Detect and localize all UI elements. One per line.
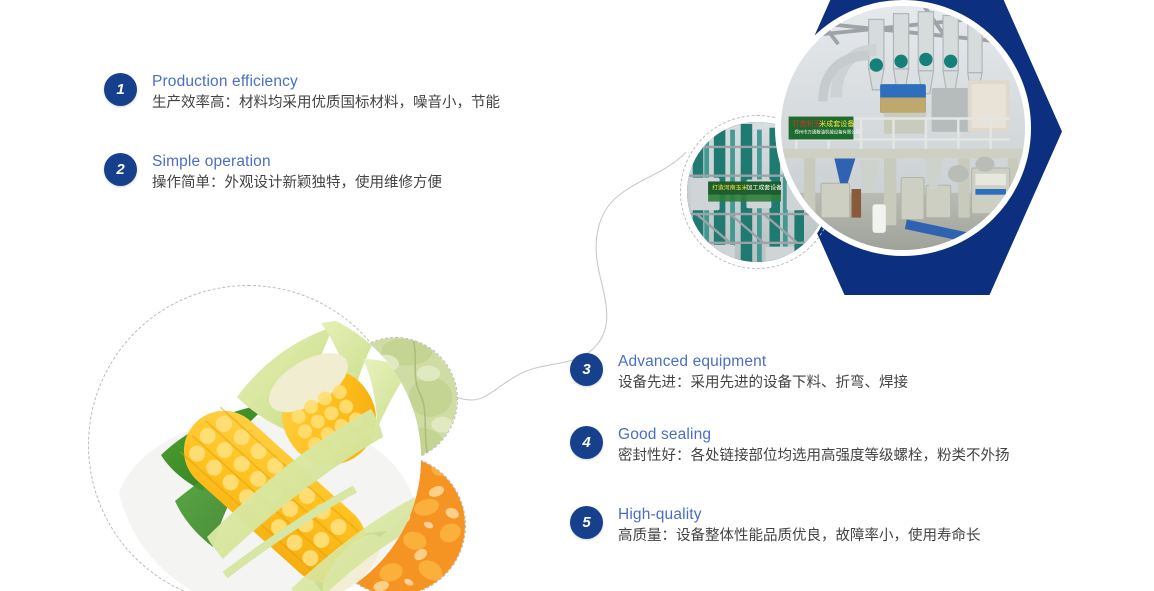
feature-body: 设备先进：采用先进的设备下料、折弯、焊接 — [618, 373, 908, 394]
corn-cob-photo-circle — [115, 305, 421, 591]
feature-item-5[interactable]: 5 High-quality 高质量：设备整体性能品质优良，故障率小，使用寿命长 — [570, 505, 981, 547]
feature-text-block: Good sealing 密封性好：各处链接部位均选用高强度等级螺栓，粉类不外扬 — [618, 425, 1010, 467]
svg-text:加工成套设备: 加工成套设备 — [746, 184, 782, 192]
feature-body: 生产效率高：材料均采用优质国标材料，噪音小，节能 — [152, 93, 500, 114]
feature-item-3[interactable]: 3 Advanced equipment 设备先进：采用先进的设备下料、折弯、焊… — [570, 352, 908, 394]
feature-body: 高质量：设备整体性能品质优良，故障率小，使用寿命长 — [618, 526, 981, 547]
poster-canvas: 打造河南玉米 加工成套设备 — [0, 0, 1154, 591]
feature-heading: Advanced equipment — [618, 352, 908, 371]
svg-text:米成套设备: 米成套设备 — [819, 119, 854, 128]
feature-heading: Production efficiency — [152, 72, 500, 91]
svg-text:打造河南玉米: 打造河南玉米 — [712, 184, 748, 192]
feature-text-block: Simple operation 操作简单：外观设计新颖独特，使用维修方便 — [152, 152, 442, 194]
feature-number-badge: 3 — [570, 353, 603, 386]
feature-number-badge: 1 — [104, 73, 137, 106]
feature-body: 密封性好：各处链接部位均选用高强度等级螺栓，粉类不外扬 — [618, 446, 1010, 467]
feature-heading: Simple operation — [152, 152, 442, 171]
feature-body: 操作简单：外观设计新颖独特，使用维修方便 — [152, 173, 442, 194]
feature-text-block: Advanced equipment 设备先进：采用先进的设备下料、折弯、焊接 — [618, 352, 908, 394]
feature-item-1[interactable]: 1 Production efficiency 生产效率高：材料均采用优质国标材… — [104, 72, 500, 114]
flour-mill-photo-circle: 打造利玉 米成套设备 郑州市万通粮油机械设备有限公司 — [775, 0, 1031, 256]
svg-text:郑州市万通粮油机械设备有限公司: 郑州市万通粮油机械设备有限公司 — [794, 129, 860, 136]
feature-item-4[interactable]: 4 Good sealing 密封性好：各处链接部位均选用高强度等级螺栓，粉类不… — [570, 425, 1010, 467]
feature-heading: Good sealing — [618, 425, 1010, 444]
feature-item-2[interactable]: 2 Simple operation 操作简单：外观设计新颖独特，使用维修方便 — [104, 152, 442, 194]
feature-number-badge: 5 — [570, 506, 603, 539]
feature-number-badge: 2 — [104, 153, 137, 186]
feature-number-badge: 4 — [570, 426, 603, 459]
feature-heading: High-quality — [618, 505, 981, 524]
feature-text-block: Production efficiency 生产效率高：材料均采用优质国标材料，… — [152, 72, 500, 114]
svg-text:打造利玉: 打造利玉 — [792, 119, 820, 128]
feature-text-block: High-quality 高质量：设备整体性能品质优良，故障率小，使用寿命长 — [618, 505, 981, 547]
